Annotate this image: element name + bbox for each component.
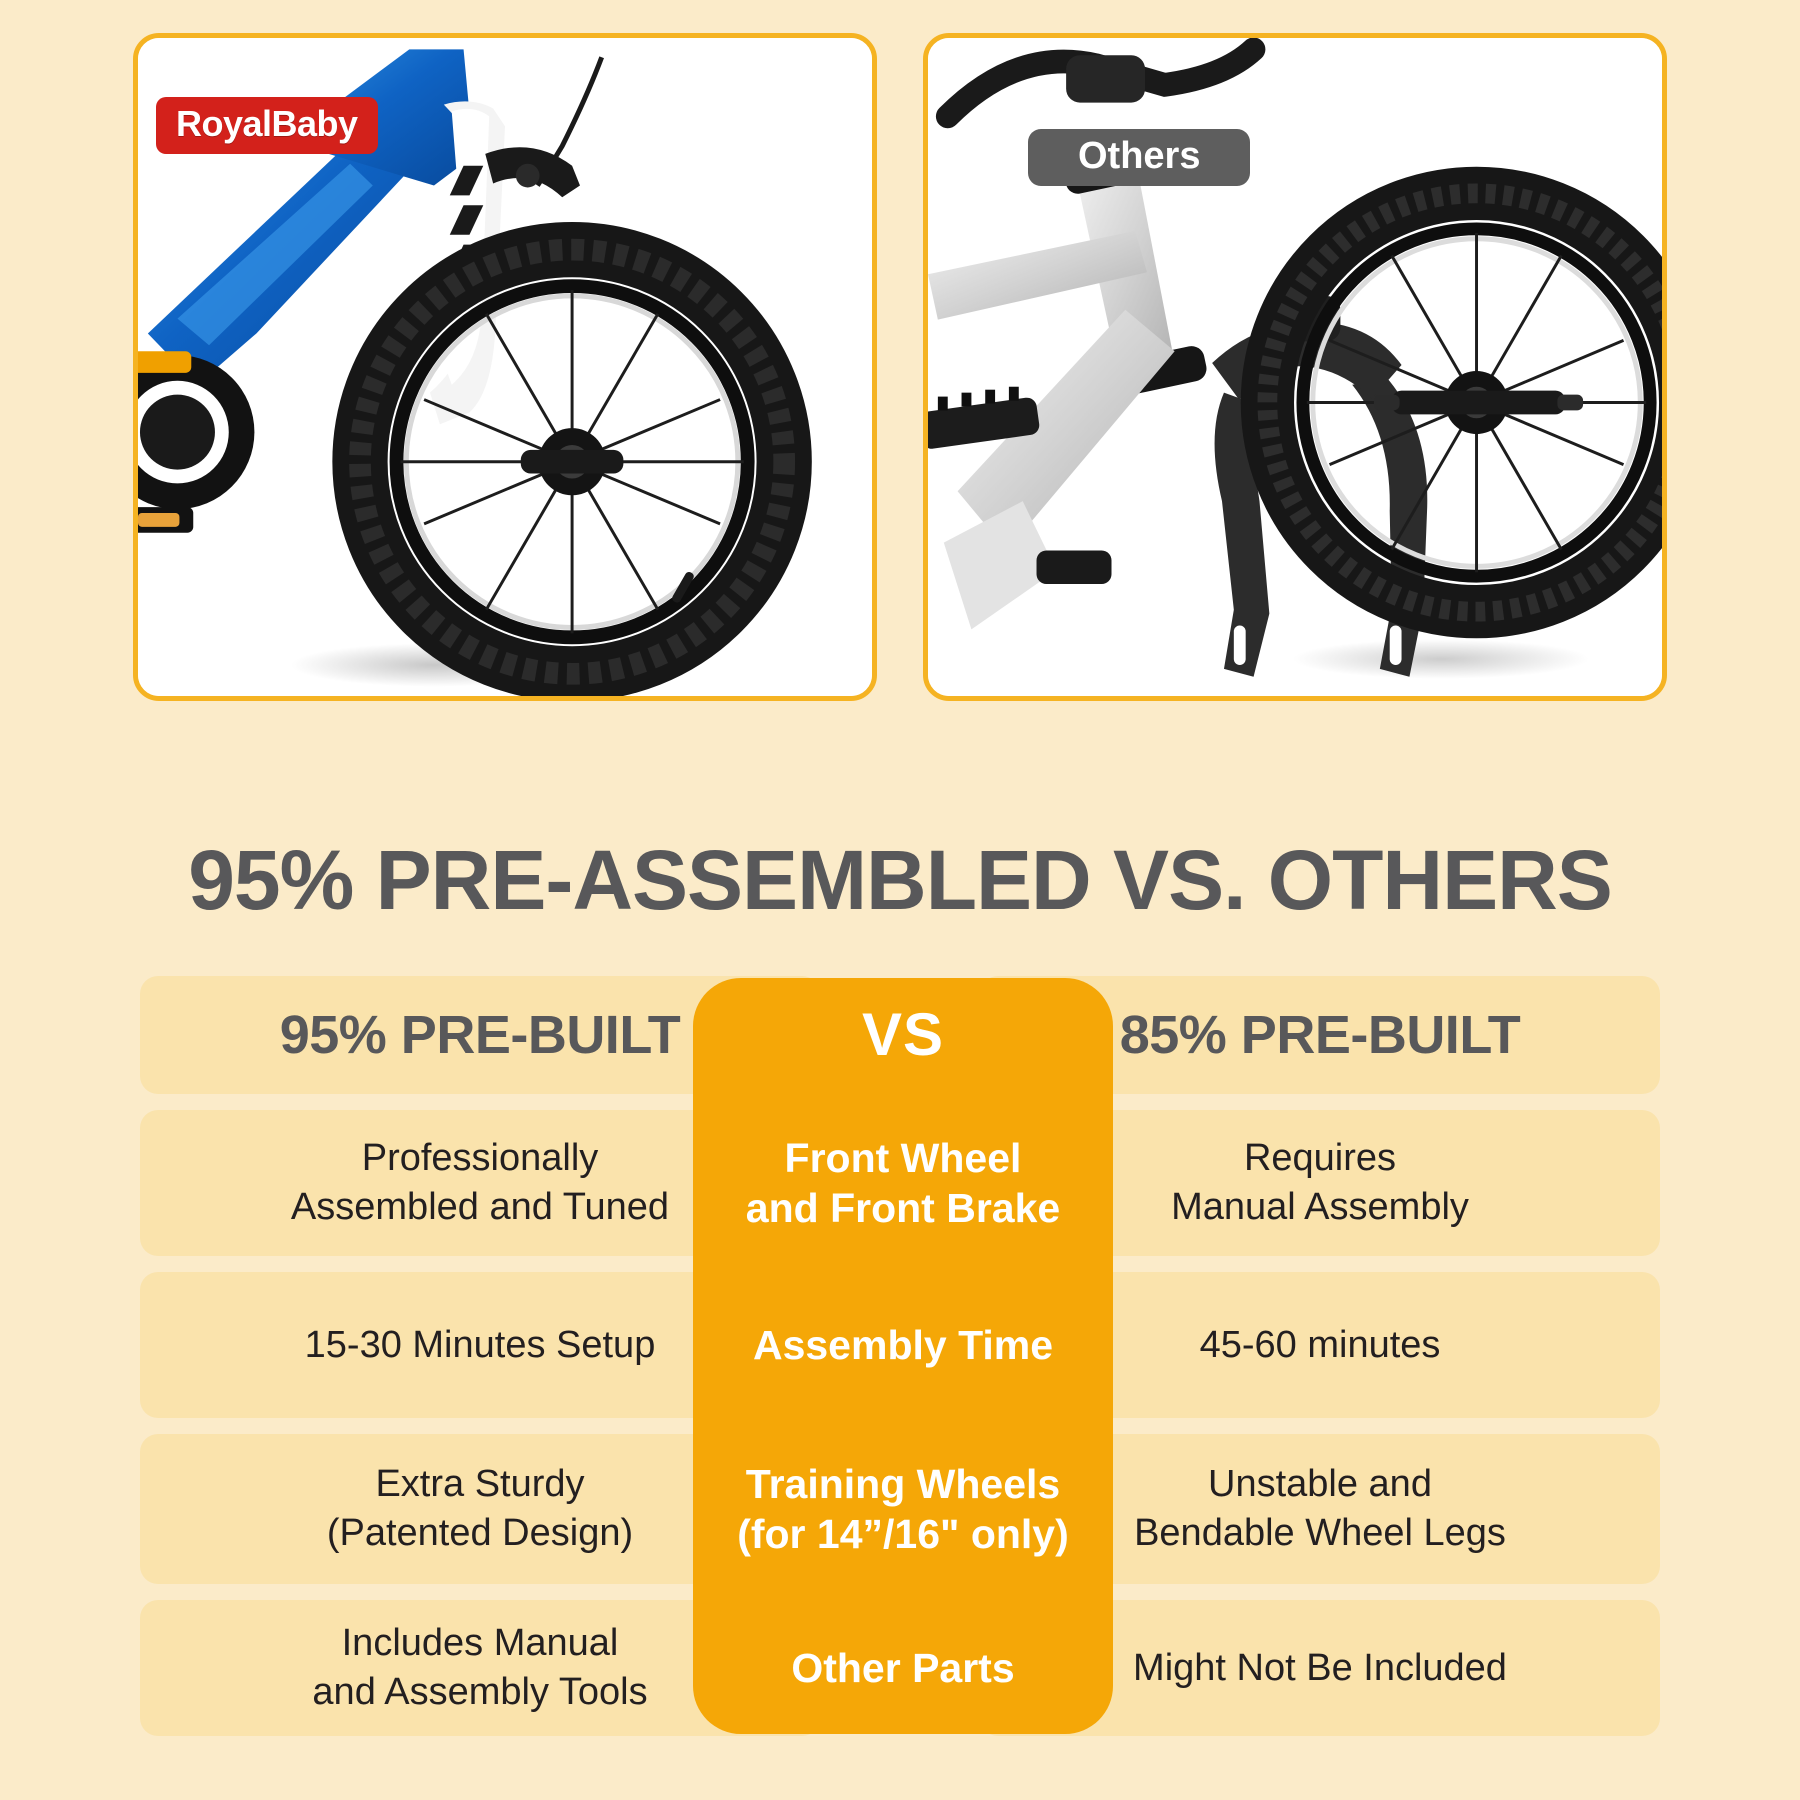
royalbaby-photo-card: RoyalBaby — [133, 33, 877, 701]
cell-text-line2: and Assembly Tools — [312, 1668, 647, 1717]
cell-text-line1: Includes Manual — [312, 1619, 647, 1668]
cell-text-line2: (for 14”/16" only) — [737, 1509, 1069, 1559]
cell-text-line2: Assembled and Tuned — [291, 1183, 669, 1232]
cell-text-line1: Extra Sturdy — [327, 1460, 633, 1509]
royalbaby-brand-badge: RoyalBaby — [156, 97, 378, 154]
vs-row-label: Training Wheels (for 14”/16" only) — [693, 1434, 1113, 1584]
vs-row-label: Assembly Time — [693, 1272, 1113, 1418]
cell-text-line1: Front Wheel — [746, 1133, 1060, 1183]
vs-label: VS — [693, 976, 1113, 1094]
cell-text-line1: Professionally — [291, 1134, 669, 1183]
cell-text-line1: Assembly Time — [753, 1320, 1053, 1370]
cell-text-line2: Bendable Wheel Legs — [1134, 1509, 1506, 1558]
cell-text-line1: 45-60 minutes — [1200, 1321, 1441, 1370]
cell-text-line1: Might Not Be Included — [1133, 1644, 1507, 1693]
cell-text-line2: and Front Brake — [746, 1183, 1060, 1233]
vs-center-column: VS Front Wheel and Front Brake Assembly … — [693, 978, 1113, 1734]
cell-text-line1: Requires — [1171, 1134, 1469, 1183]
others-badge: Others — [1028, 129, 1250, 186]
page-title: 95% PRE-ASSEMBLED VS. OTHERS — [0, 838, 1800, 922]
photo-comparison-row: RoyalBaby — [133, 33, 1667, 701]
vs-row-label: Front Wheel and Front Brake — [693, 1110, 1113, 1256]
cell-text-line2: Manual Assembly — [1171, 1183, 1469, 1232]
cell-text-line1: 15-30 Minutes Setup — [305, 1321, 656, 1370]
vs-row-label: Other Parts — [693, 1600, 1113, 1736]
cell-text-line1: Other Parts — [791, 1643, 1014, 1693]
cell-text-line2: (Patented Design) — [327, 1509, 633, 1558]
others-photo-card: Others — [923, 33, 1667, 701]
cell-text-line1: Training Wheels — [737, 1459, 1069, 1509]
cell-text-line1: Unstable and — [1134, 1460, 1506, 1509]
